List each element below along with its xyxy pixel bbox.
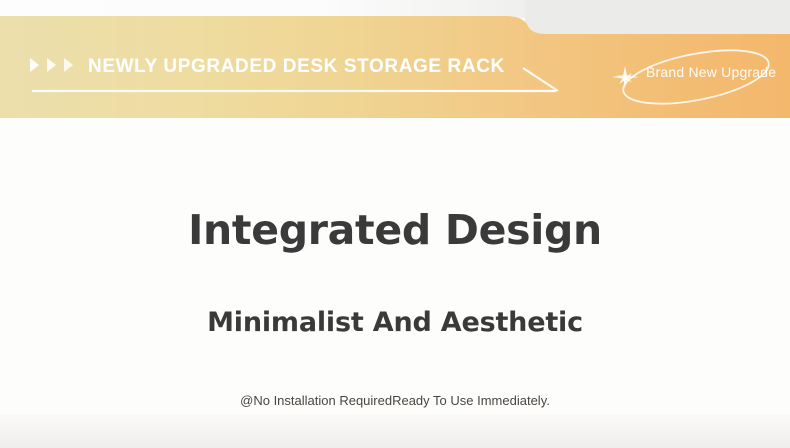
caption-text: @No Installation RequiredReady To Use Im… xyxy=(0,393,790,408)
banner-underline-arrow xyxy=(0,60,600,110)
sparkle-star-icon xyxy=(612,66,639,88)
bottom-edge-tint xyxy=(0,414,790,448)
subheadline: Minimalist And Aesthetic xyxy=(0,307,790,338)
badge-label: Brand New Upgrade xyxy=(646,64,776,80)
main-content: Integrated Design Minimalist And Aesthet… xyxy=(0,118,790,448)
banner-content: NEWLY UPGRADED DESK STORAGE RACK Brand N… xyxy=(0,0,790,130)
headline: Integrated Design xyxy=(0,206,790,254)
promo-banner: NEWLY UPGRADED DESK STORAGE RACK Brand N… xyxy=(0,0,790,130)
brand-new-upgrade-badge: Brand New Upgrade xyxy=(608,46,790,108)
page-root: NEWLY UPGRADED DESK STORAGE RACK Brand N… xyxy=(0,0,790,448)
